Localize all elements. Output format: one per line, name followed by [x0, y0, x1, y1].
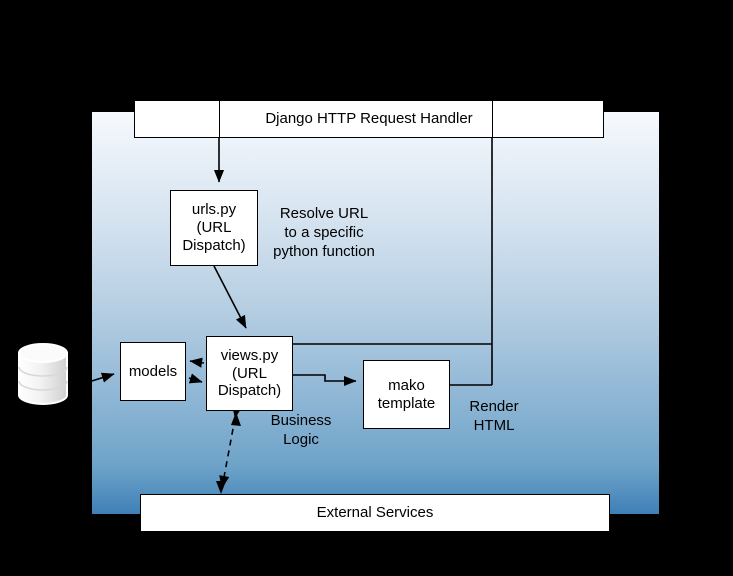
http-handler-divider-right	[492, 100, 493, 138]
label-render-html: Render HTML	[455, 398, 533, 436]
box-label-line2: (URL	[218, 365, 281, 383]
box-label-line2: template	[378, 395, 436, 413]
box-mako-template[interactable]: mako template	[363, 360, 450, 429]
box-views-py[interactable]: views.py (URL Dispatch)	[206, 336, 293, 411]
label-line2: to a specific	[262, 224, 386, 243]
diagram-canvas: Django HTTP Request Handler urls.py (URL…	[0, 0, 733, 576]
box-label: Django HTTP Request Handler	[265, 110, 472, 128]
connector-views-to-models	[190, 361, 204, 363]
box-label-line2: (URL	[182, 219, 245, 237]
label-line2: Logic	[255, 431, 347, 450]
http-handler-divider-left	[219, 100, 220, 138]
box-urls-py[interactable]: urls.py (URL Dispatch)	[170, 190, 258, 266]
box-django-http-request-handler[interactable]: Django HTTP Request Handler	[134, 100, 604, 138]
label-line2: HTML	[455, 417, 533, 436]
label-line1: Business	[255, 412, 347, 431]
box-models[interactable]: models	[120, 342, 186, 401]
connector-views-to-mako	[293, 375, 356, 381]
box-label-line1: urls.py	[182, 201, 245, 219]
connector-views-to-external-services	[216, 412, 241, 494]
box-label: models	[129, 363, 177, 381]
connector-models-to-views	[189, 378, 202, 382]
label-business-logic: Business Logic	[255, 412, 347, 450]
label-line3: python function	[262, 243, 386, 262]
box-label-line1: views.py	[218, 347, 281, 365]
box-label: External Services	[317, 504, 434, 522]
box-label-line1: mako	[378, 377, 436, 395]
box-label-line3: Dispatch)	[218, 382, 281, 400]
box-label-line3: Dispatch)	[182, 237, 245, 255]
label-line1: Render	[455, 398, 533, 417]
connector-database-to-models	[76, 374, 114, 386]
box-external-services[interactable]: External Services	[140, 494, 610, 532]
connector-layer	[0, 0, 733, 576]
label-resolve-url: Resolve URL to a specific python functio…	[262, 205, 386, 261]
connector-urls-to-views	[214, 266, 246, 328]
label-line1: Resolve URL	[262, 205, 386, 224]
database-cylinder-icon	[16, 343, 70, 405]
